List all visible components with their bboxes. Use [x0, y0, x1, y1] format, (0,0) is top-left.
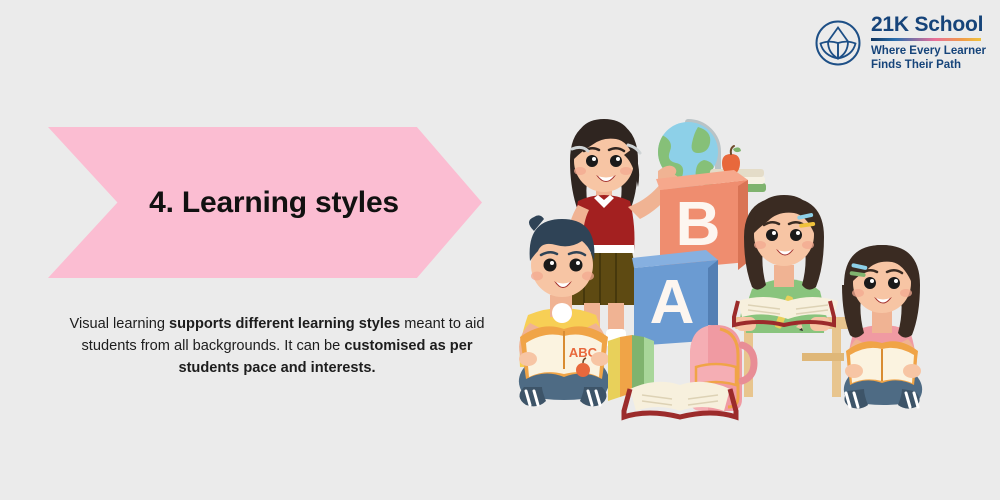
open-book-abc: ABC [520, 326, 608, 379]
brand-name: 21K School [871, 14, 983, 35]
open-book-orange [846, 341, 918, 385]
body-segment-2: supports different learning styles [169, 316, 400, 332]
headline-banner: 4. Learning styles [48, 127, 482, 278]
block-a-letter: A [650, 268, 695, 337]
children-learning-illustration: B A [512, 105, 944, 435]
brand-logo[interactable]: 21K School Where Every Learner Finds The… [814, 14, 986, 72]
child-girl-green [734, 195, 838, 333]
brand-tagline-line-2: Finds Their Path [871, 59, 961, 71]
page-title: 4. Learning styles [131, 186, 399, 220]
brand-tagline: Where Every Learner Finds Their Path [871, 44, 986, 72]
brand-gradient-rule [871, 38, 981, 41]
lotus-circle-logo-icon [814, 19, 862, 67]
brand-tagline-line-1: Where Every Learner [871, 45, 986, 57]
child-girl-pink [842, 245, 922, 409]
open-book-on-floor [624, 382, 736, 417]
body-paragraph: Visual learning supports different learn… [62, 313, 492, 380]
brand-wordmark: 21K School Where Every Learner Finds The… [871, 14, 986, 72]
body-segment-1: Visual learning [69, 316, 169, 332]
block-b-letter: B [676, 190, 721, 259]
